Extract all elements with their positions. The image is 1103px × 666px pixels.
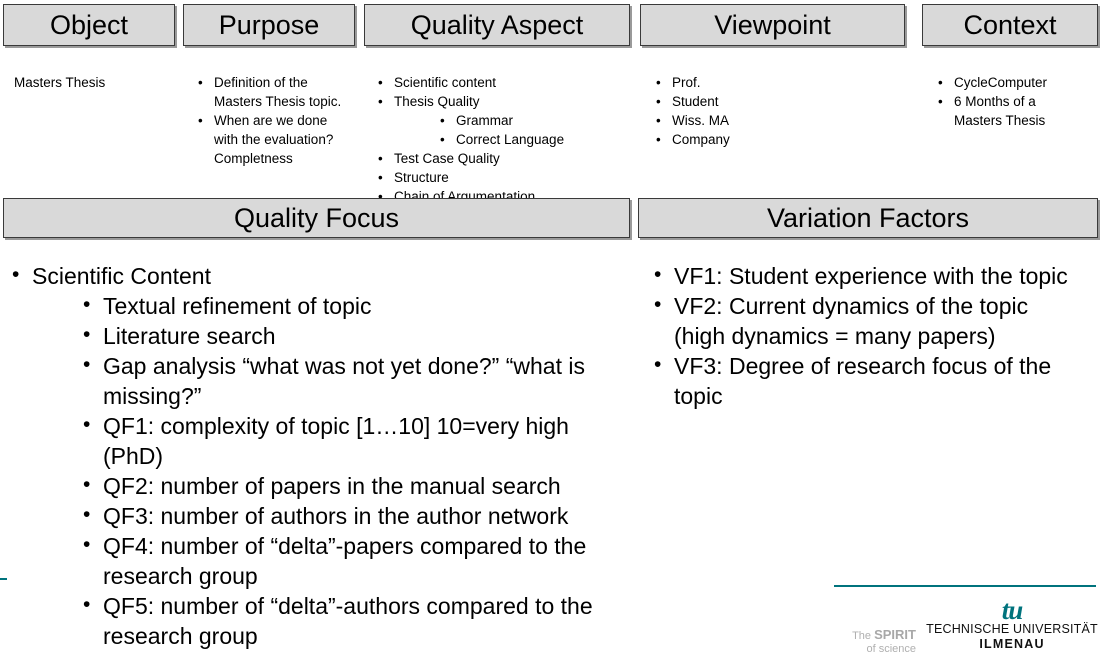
list-item-label: Scientific Content [32, 263, 211, 289]
footer-divider [834, 585, 1096, 587]
object-text: Masters Thesis [14, 73, 164, 92]
variation-factors-content: VF1: Student experience with the topic V… [650, 261, 1082, 411]
list-item: Correct Language [434, 130, 634, 149]
list-item: Gap analysis “what was not yet done?” “w… [80, 351, 632, 411]
list-item: Scientific Content Textual refinement of… [8, 261, 632, 651]
tu-script-icon: tu [926, 598, 1098, 622]
list-item: Prof. [650, 73, 900, 92]
list-item: Student [650, 92, 900, 111]
list-item: QF4: number of “delta”-papers compared t… [80, 531, 632, 591]
tu-name-line-1: TECHNISCHE UNIVERSITÄT [926, 622, 1098, 637]
header-box-quality-aspect: Quality Aspect [364, 4, 630, 46]
spirit-the-text: The [852, 630, 874, 642]
header-box-quality-focus: Quality Focus [3, 198, 630, 238]
list-item: 6 Months of a Masters Thesis [932, 92, 1072, 130]
list-item: Grammar [434, 111, 634, 130]
list-item-label: Thesis Quality [394, 94, 480, 109]
header-label-object: Object [50, 12, 128, 39]
list-item: Structure [372, 168, 634, 187]
quality-focus-sublist: Textual refinement of topic Literature s… [80, 291, 632, 651]
variation-factors-list: VF1: Student experience with the topic V… [650, 261, 1082, 411]
viewpoint-column: Prof. Student Wiss. MA Company [650, 73, 900, 149]
spirit-line-1: The SPIRIT [820, 628, 916, 643]
list-item: Thesis Quality Grammar Correct Language [372, 92, 634, 149]
viewpoint-list: Prof. Student Wiss. MA Company [650, 73, 900, 149]
list-item: Test Case Quality [372, 149, 634, 168]
purpose-column: Definition of the Masters Thesis topic. … [192, 73, 352, 168]
header-box-object: Object [3, 4, 175, 46]
list-item: QF2: number of papers in the manual sear… [80, 471, 632, 501]
header-label-viewpoint: Viewpoint [714, 12, 831, 39]
list-item: Scientific content [372, 73, 634, 92]
list-item: VF2: Current dynamics of the topic (high… [650, 291, 1082, 351]
list-item: VF3: Degree of research focus of the top… [650, 351, 1082, 411]
header-label-quality-focus: Quality Focus [234, 205, 399, 232]
list-item: Textual refinement of topic [80, 291, 632, 321]
quality-focus-list: Scientific Content Textual refinement of… [8, 261, 632, 651]
list-item: Company [650, 130, 900, 149]
header-label-purpose: Purpose [219, 12, 320, 39]
list-item: Definition of the Masters Thesis topic. [192, 73, 352, 111]
spirit-word-text: SPIRIT [874, 627, 916, 642]
object-column: Masters Thesis [14, 73, 164, 92]
list-item: CycleComputer [932, 73, 1072, 92]
header-label-context: Context [963, 12, 1056, 39]
quality-focus-content: Scientific Content Textual refinement of… [8, 261, 632, 651]
context-list: CycleComputer 6 Months of a Masters Thes… [932, 73, 1072, 130]
list-item: QF5: number of “delta”-authors compared … [80, 591, 632, 651]
header-label-variation-factors: Variation Factors [767, 205, 969, 232]
list-item: Literature search [80, 321, 632, 351]
list-item: Wiss. MA [650, 111, 900, 130]
purpose-list: Definition of the Masters Thesis topic. … [192, 73, 352, 168]
spirit-line-2: of science [820, 643, 916, 656]
context-column: CycleComputer 6 Months of a Masters Thes… [932, 73, 1072, 130]
header-box-variation-factors: Variation Factors [638, 198, 1098, 238]
list-item: QF1: complexity of topic [1…10] 10=very … [80, 411, 632, 471]
header-box-context: Context [922, 4, 1098, 46]
left-edge-tick [0, 578, 7, 580]
header-label-quality-aspect: Quality Aspect [411, 12, 584, 39]
header-box-purpose: Purpose [183, 4, 355, 46]
list-item: When are we done with the evaluation? Co… [192, 111, 352, 168]
list-item: VF1: Student experience with the topic [650, 261, 1082, 291]
list-item: QF3: number of authors in the author net… [80, 501, 632, 531]
tu-ilmenau-logo: tu TECHNISCHE UNIVERSITÄT ILMENAU [926, 598, 1098, 652]
spirit-of-science-logo: The SPIRIT of science [820, 628, 916, 656]
tu-name-line-2: ILMENAU [926, 637, 1098, 652]
thesis-quality-sublist: Grammar Correct Language [434, 111, 634, 149]
header-box-viewpoint: Viewpoint [640, 4, 905, 46]
